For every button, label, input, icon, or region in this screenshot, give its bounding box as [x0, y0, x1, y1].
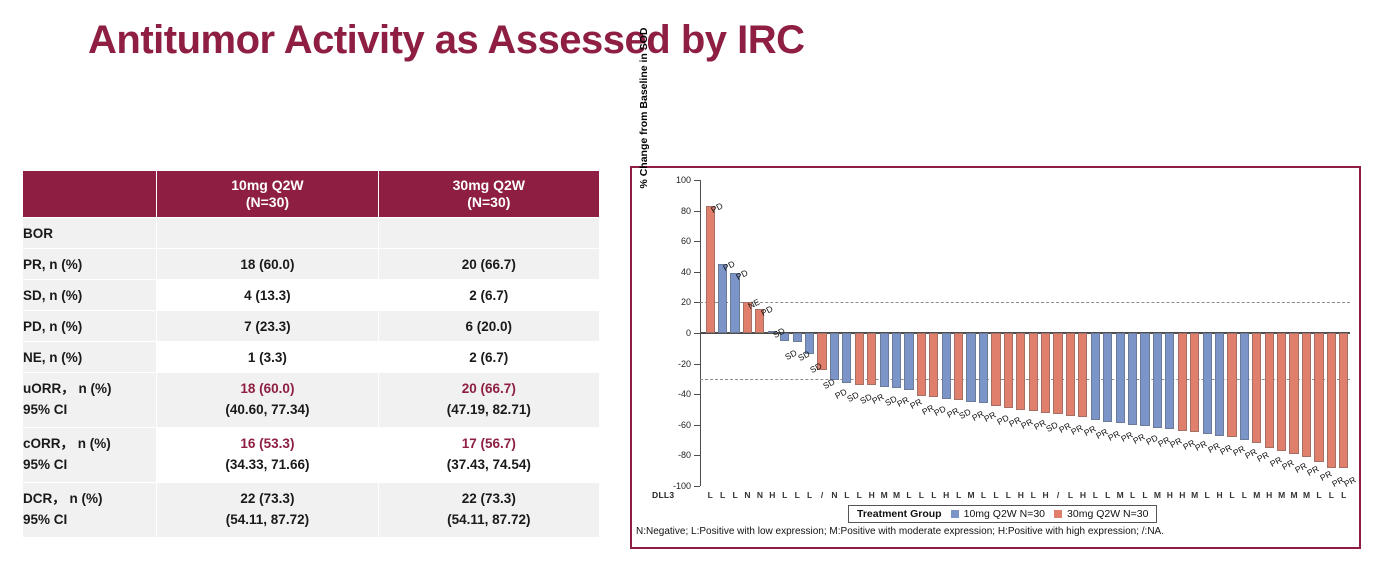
cell-arm-10mg-line2: (54.11, 87.72) — [157, 510, 377, 531]
dll3-mark: L — [795, 490, 800, 500]
dll3-mark: L — [956, 490, 961, 500]
dll3-mark: M — [893, 490, 900, 500]
dll3-marks: LLLNNHLLL/NLLHMMLLLHLMLLLHLH/LHLLMLLMHHM… — [701, 490, 1351, 504]
plot-wrapper: % Change from Baseline in SOD 1008060402… — [632, 168, 1359, 547]
dll3-row-label: DLL3 — [652, 490, 674, 500]
dll3-mark: L — [981, 490, 986, 500]
y-tick-label: -60 — [678, 420, 691, 430]
y-tick — [694, 486, 700, 487]
cell-arm-10mg: 18 (60.0)(40.60, 77.34) — [157, 373, 378, 428]
chart-legend: Treatment Group 10mg Q2W N=30 30mg Q2W N… — [848, 505, 1157, 523]
antitumor-results-table: 10mg Q2W (N=30) 30mg Q2W (N=30) BORPR, n… — [22, 170, 600, 538]
cell-arm-10mg-line1: 16 (53.3) — [157, 434, 377, 455]
cell-arm-10mg-line2: (34.33, 71.66) — [157, 455, 377, 476]
dll3-mark: H — [869, 490, 875, 500]
cell-arm-10mg-line2: (40.60, 77.34) — [157, 400, 377, 421]
table-row: uORR， n (%)95% CI18 (60.0)(40.60, 77.34)… — [23, 373, 600, 428]
y-tick — [694, 364, 700, 365]
dll3-annotation-row: DLL3 LLLNNHLLL/NLLHMMLLLHLMLLLHLH/LHLLML… — [632, 490, 1359, 504]
table-row: NE, n (%)1 (3.3)2 (6.7) — [23, 342, 600, 373]
dll3-mark: H — [943, 490, 949, 500]
cell-arm-10mg: 18 (60.0) — [157, 249, 378, 280]
y-tick — [694, 180, 700, 181]
dll3-mark: L — [708, 490, 713, 500]
y-tick-label: 40 — [681, 267, 691, 277]
y-axis-label: % Change from Baseline in SOD — [638, 8, 650, 208]
dll3-mark: L — [1093, 490, 1098, 500]
dll3-mark: H — [1216, 490, 1222, 500]
table-row: BOR — [23, 218, 600, 249]
row-label-line2: 95% CI — [23, 455, 156, 476]
row-label: NE, n (%) — [23, 342, 157, 373]
bar-response-label: SD — [771, 326, 786, 340]
bar-response-label: PD — [709, 201, 724, 215]
table-row: PD, n (%)7 (23.3)6 (20.0) — [23, 311, 600, 342]
row-label-line1: uORR， n (%) — [23, 379, 156, 400]
legend-item-10mg: 10mg Q2W N=30 — [951, 508, 1045, 520]
dll3-mark: M — [1191, 490, 1198, 500]
dll3-mark: H — [1080, 490, 1086, 500]
row-label: PD, n (%) — [23, 311, 157, 342]
y-tick — [694, 394, 700, 395]
cell-arm-10mg-line1: 18 (60.0) — [157, 379, 377, 400]
cell-arm-30mg: 22 (73.3)(54.11, 87.72) — [378, 483, 599, 538]
bar-response-label: SD — [821, 376, 836, 390]
bar-response-label: PD — [734, 268, 749, 282]
cell-arm-30mg-line1: 20 (66.7) — [379, 379, 599, 400]
table-row: DCR， n (%)95% CI22 (73.3)(54.11, 87.72)2… — [23, 483, 600, 538]
dll3-mark: L — [1205, 490, 1210, 500]
dll3-mark: / — [821, 490, 823, 500]
dll3-mark: N — [831, 490, 837, 500]
cell-arm-30mg: 17 (56.7)(37.43, 74.54) — [378, 428, 599, 483]
table-row: PR, n (%)18 (60.0)20 (66.7) — [23, 249, 600, 280]
dll3-mark: M — [968, 490, 975, 500]
row-label-line1: cORR， n (%) — [23, 434, 156, 455]
y-tick — [694, 241, 700, 242]
table-header-corner — [23, 171, 157, 218]
table-header-row: 10mg Q2W (N=30) 30mg Q2W (N=30) — [23, 171, 600, 218]
dll3-mark: L — [1031, 490, 1036, 500]
dll3-mark: N — [744, 490, 750, 500]
bar-response-label: SD — [808, 361, 823, 375]
arm2-dose: 30mg Q2W — [379, 177, 599, 195]
dll3-mark: L — [1142, 490, 1147, 500]
dll3-mark: N — [757, 490, 763, 500]
y-tick-label: 0 — [686, 328, 691, 338]
legend-swatch-10mg — [951, 510, 959, 518]
y-tick-label: -20 — [678, 359, 691, 369]
cell-arm-30mg-line1: 17 (56.7) — [379, 434, 599, 455]
dll3-mark: M — [1117, 490, 1124, 500]
y-tick — [694, 272, 700, 273]
dll3-mark: M — [1291, 490, 1298, 500]
plot-area: 100806040200-20-40-60-80-100 PDPDPDNEPDS… — [700, 180, 1350, 486]
dll3-mark: L — [807, 490, 812, 500]
cell-arm-30mg — [378, 218, 599, 249]
dll3-mark: L — [906, 490, 911, 500]
y-tick-label: 20 — [681, 297, 691, 307]
dll3-mark: L — [919, 490, 924, 500]
dll3-mark: H — [1018, 490, 1024, 500]
row-label-line2: 95% CI — [23, 400, 156, 421]
dll3-mark: L — [1341, 490, 1346, 500]
table-row: cORR， n (%)95% CI16 (53.3)(34.33, 71.66)… — [23, 428, 600, 483]
dll3-mark: L — [1329, 490, 1334, 500]
row-label: SD, n (%) — [23, 280, 157, 311]
y-tick-label: -40 — [678, 389, 691, 399]
legend-label-10mg: 10mg Q2W N=30 — [964, 508, 1045, 520]
dll3-mark: M — [881, 490, 888, 500]
cell-arm-30mg-line2: (47.19, 82.71) — [379, 400, 599, 421]
cell-arm-30mg: 20 (66.7)(47.19, 82.71) — [378, 373, 599, 428]
dll3-mark: L — [732, 490, 737, 500]
cell-arm-30mg: 2 (6.7) — [378, 280, 599, 311]
dll3-mark: M — [1253, 490, 1260, 500]
dll3-mark: H — [1266, 490, 1272, 500]
y-tick — [694, 425, 700, 426]
row-label: BOR — [23, 218, 157, 249]
bar-response-label: SD — [796, 349, 811, 363]
cell-arm-10mg: 16 (53.3)(34.33, 71.66) — [157, 428, 378, 483]
dll3-mark: L — [931, 490, 936, 500]
dll3-mark: L — [993, 490, 998, 500]
bar-response-label: PR — [1343, 474, 1358, 488]
dll3-mark: H — [1167, 490, 1173, 500]
row-label: uORR， n (%)95% CI — [23, 373, 157, 428]
cell-arm-10mg: 22 (73.3)(54.11, 87.72) — [157, 483, 378, 538]
cell-arm-30mg: 20 (66.7) — [378, 249, 599, 280]
row-label-line1: DCR， n (%) — [23, 489, 156, 510]
y-tick — [694, 455, 700, 456]
y-tick-label: -80 — [678, 450, 691, 460]
dll3-mark: L — [1130, 490, 1135, 500]
y-tick-label: 60 — [681, 236, 691, 246]
table-header-arm-30mg: 30mg Q2W (N=30) — [378, 171, 599, 218]
cell-arm-10mg: 7 (23.3) — [157, 311, 378, 342]
dll3-mark: L — [1006, 490, 1011, 500]
row-label: cORR， n (%)95% CI — [23, 428, 157, 483]
y-tick-label: 100 — [676, 175, 691, 185]
row-label-line2: 95% CI — [23, 510, 156, 531]
arm2-n: (N=30) — [379, 194, 599, 212]
dll3-mark: M — [1278, 490, 1285, 500]
dll3-mark: M — [1154, 490, 1161, 500]
dll3-mark: H — [1043, 490, 1049, 500]
cell-arm-30mg-line1: 22 (73.3) — [379, 489, 599, 510]
bar-response-labels: PDPDPDNEPDSDSDSDSDSDPDSDSDPRSDPRPRPRPDPR… — [701, 180, 1350, 486]
dll3-mark: M — [1303, 490, 1310, 500]
bar-response-label: PD — [722, 259, 737, 273]
cell-arm-30mg: 6 (20.0) — [378, 311, 599, 342]
cell-arm-10mg: 1 (3.3) — [157, 342, 378, 373]
legend-title: Treatment Group — [857, 508, 942, 520]
dll3-mark: H — [769, 490, 775, 500]
legend-item-30mg: 30mg Q2W N=30 — [1054, 508, 1148, 520]
dll3-mark: L — [857, 490, 862, 500]
legend-label-30mg: 30mg Q2W N=30 — [1067, 508, 1148, 520]
dll3-mark: L — [782, 490, 787, 500]
cell-arm-30mg: 2 (6.7) — [378, 342, 599, 373]
table-row: SD, n (%)4 (13.3)2 (6.7) — [23, 280, 600, 311]
chart-footnote: N:Negative; L:Positive with low expressi… — [636, 526, 1164, 537]
cell-arm-10mg: 4 (13.3) — [157, 280, 378, 311]
legend-swatch-30mg — [1054, 510, 1062, 518]
arm1-dose: 10mg Q2W — [157, 177, 377, 195]
y-tick — [694, 211, 700, 212]
table-header: 10mg Q2W (N=30) 30mg Q2W (N=30) — [23, 171, 600, 218]
cell-arm-30mg-line2: (54.11, 87.72) — [379, 510, 599, 531]
cell-arm-30mg-line2: (37.43, 74.54) — [379, 455, 599, 476]
arm1-n: (N=30) — [157, 194, 377, 212]
dll3-mark: L — [720, 490, 725, 500]
cell-arm-10mg — [157, 218, 378, 249]
page-title: Antitumor Activity as Assessed by IRC — [88, 18, 805, 63]
dll3-mark: / — [1057, 490, 1059, 500]
waterfall-chart-panel: % Change from Baseline in SOD 1008060402… — [630, 166, 1361, 549]
cell-arm-10mg-line1: 22 (73.3) — [157, 489, 377, 510]
dll3-mark: L — [1229, 490, 1234, 500]
dll3-mark: L — [1316, 490, 1321, 500]
dll3-mark: H — [1179, 490, 1185, 500]
dll3-mark: L — [1105, 490, 1110, 500]
dll3-mark: L — [844, 490, 849, 500]
row-label: PR, n (%) — [23, 249, 157, 280]
dll3-mark: L — [1242, 490, 1247, 500]
table-header-arm-10mg: 10mg Q2W (N=30) — [157, 171, 378, 218]
table-body: BORPR, n (%)18 (60.0)20 (66.7)SD, n (%)4… — [23, 218, 600, 538]
y-tick-label: 80 — [681, 206, 691, 216]
row-label: DCR， n (%)95% CI — [23, 483, 157, 538]
dll3-mark: L — [1068, 490, 1073, 500]
